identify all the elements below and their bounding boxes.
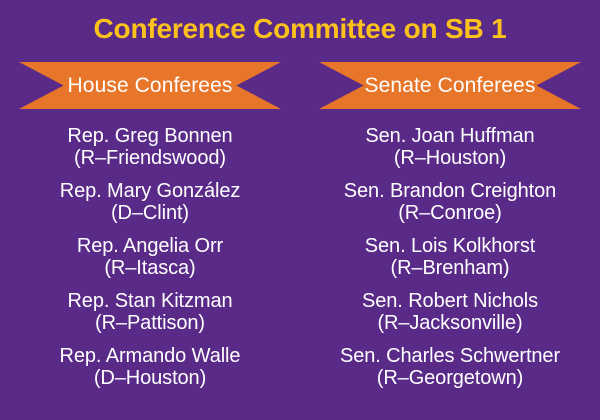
list-item: Sen. Brandon Creighton (R–Conroe) (302, 180, 598, 224)
member-name: Sen. Robert Nichols (302, 290, 598, 312)
house-banner-label: House Conferees (68, 75, 233, 96)
member-party: (R–Jacksonville) (302, 312, 598, 334)
list-item: Rep. Mary González (D–Clint) (2, 180, 298, 224)
list-item: Rep. Greg Bonnen (R–Friendswood) (2, 125, 298, 169)
member-party: (R–Houston) (302, 147, 598, 169)
senate-conferees-banner: Senate Conferees (319, 62, 581, 109)
member-party: (R–Conroe) (302, 202, 598, 224)
senate-member-list: Sen. Joan Huffman (R–Houston) Sen. Brand… (302, 125, 598, 389)
list-item: Rep. Stan Kitzman (R–Pattison) (2, 290, 298, 334)
member-name: Rep. Stan Kitzman (2, 290, 298, 312)
page-title: Conference Committee on SB 1 (94, 15, 507, 43)
member-party: (R–Brenham) (302, 257, 598, 279)
house-column: House Conferees Rep. Greg Bonnen (R–Frie… (0, 62, 300, 420)
list-item: Sen. Joan Huffman (R–Houston) (302, 125, 598, 169)
list-item: Sen. Charles Schwertner (R–Georgetown) (302, 345, 598, 389)
list-item: Rep. Armando Walle (D–Houston) (2, 345, 298, 389)
senate-column: Senate Conferees Sen. Joan Huffman (R–Ho… (300, 62, 600, 420)
conference-committee-graphic: Conference Committee on SB 1 House Confe… (0, 0, 600, 420)
list-item: Sen. Robert Nichols (R–Jacksonville) (302, 290, 598, 334)
member-name: Sen. Charles Schwertner (302, 345, 598, 367)
member-party: (R–Georgetown) (302, 367, 598, 389)
member-party: (D–Clint) (2, 202, 298, 224)
conferee-columns: House Conferees Rep. Greg Bonnen (R–Frie… (0, 62, 600, 420)
senate-banner-label: Senate Conferees (365, 75, 536, 96)
member-name: Sen. Joan Huffman (302, 125, 598, 147)
member-name: Rep. Angelia Orr (2, 235, 298, 257)
list-item: Sen. Lois Kolkhorst (R–Brenham) (302, 235, 598, 279)
member-name: Sen. Brandon Creighton (302, 180, 598, 202)
member-party: (R–Itasca) (2, 257, 298, 279)
member-party: (R–Friendswood) (2, 147, 298, 169)
house-member-list: Rep. Greg Bonnen (R–Friendswood) Rep. Ma… (2, 125, 298, 389)
member-name: Sen. Lois Kolkhorst (302, 235, 598, 257)
house-conferees-banner: House Conferees (19, 62, 281, 109)
member-party: (D–Houston) (2, 367, 298, 389)
member-name: Rep. Armando Walle (2, 345, 298, 367)
title-row: Conference Committee on SB 1 (0, 0, 600, 58)
member-name: Rep. Greg Bonnen (2, 125, 298, 147)
member-party: (R–Pattison) (2, 312, 298, 334)
list-item: Rep. Angelia Orr (R–Itasca) (2, 235, 298, 279)
member-name: Rep. Mary González (2, 180, 298, 202)
